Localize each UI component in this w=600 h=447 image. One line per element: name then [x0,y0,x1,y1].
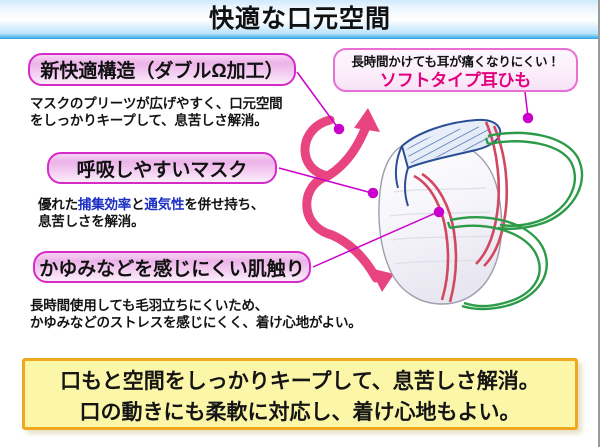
header-band: 快適な口元空間 [0,0,600,39]
callout-new-comfort-structure: 新快適構造（ダブルΩ加工） [28,53,296,86]
infographic-page: 快適な口元空間 新快適構造（ダブルΩ加工） マスクのプリーツが広げやすく、口元空… [0,0,600,447]
ear-strap-title: ソフトタイプ耳ひも [335,71,576,91]
callout-soft-ear-straps: 長時間かけても耳が痛くなりにくい！ ソフトタイプ耳ひも [333,48,578,92]
description-line: 優れた捕集効率と通気性を併せ持ち、 [38,196,264,213]
callout-label-1: 新快適構造（ダブルΩ加工） [40,56,283,83]
callout-low-itch-skin-feel: かゆみなどを感じにくい肌触り [33,251,311,283]
ear-strap-subtitle: 長時間かけても耳が痛くなりにくい！ [335,53,576,71]
description-easy-breathing-mask: 優れた捕集効率と通気性を併せ持ち、 息苦しさを解消。 [38,196,264,230]
callout-label-3: かゆみなどを感じにくい肌触り [39,254,305,281]
page-title: 快適な口元空間 [0,2,600,36]
mask-illustration [290,92,600,354]
description-new-comfort-structure: マスクのプリーツが広げやすく、口元空間 をしっかりキープして、息苦しさ解消。 [30,95,282,129]
summary-line-1: 口もと空間をしっかりキープして、息苦しさ解消。 [25,366,575,397]
highlight-collection-efficiency: 捕集効率 [78,197,131,212]
highlight-breathability: 通気性 [144,197,184,212]
callout-easy-breathing-mask: 呼吸しやすいマスク [47,152,277,184]
text-segment: と [131,197,144,212]
text-segment: を併せ持ち、 [184,197,264,212]
description-line: をしっかりキープして、息苦しさ解消。 [30,112,282,129]
summary-banner: 口もと空間をしっかりキープして、息苦しさ解消。 口の動きにも柔軟に対応し、着け心… [22,358,578,430]
summary-line-2: 口の動きにも柔軟に対応し、着け心地もよい。 [25,397,575,428]
description-line: 息苦しさを解消。 [38,213,264,230]
description-line: マスクのプリーツが広げやすく、口元空間 [30,95,282,112]
text-segment: 優れた [38,197,78,212]
callout-label-2: 呼吸しやすいマスク [77,155,248,182]
